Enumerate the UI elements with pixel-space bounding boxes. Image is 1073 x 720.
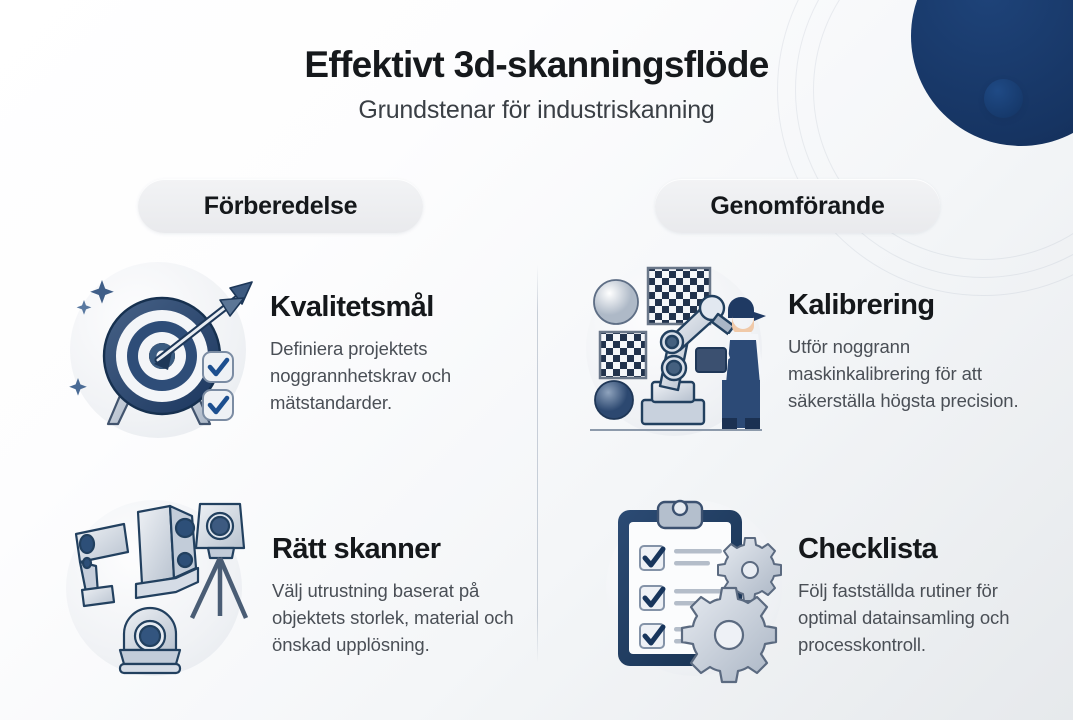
- item-title: Kvalitetsmål: [270, 292, 520, 324]
- section-pill-execution: Genomförande: [655, 179, 940, 233]
- clipboard-checklist-gears-icon: [598, 490, 794, 686]
- infographic-canvas: Effektivt 3d-skanningsflöde Grundstenar …: [0, 0, 1073, 720]
- item-title: Checklista: [798, 534, 1053, 566]
- page-title: Effektivt 3d-skanningsflöde: [0, 44, 1073, 87]
- list-item: Kalibrering Utför noggrann maskinkalibre…: [578, 250, 1038, 446]
- item-title: Rätt skanner: [272, 534, 527, 566]
- section-pill-label: Genomförande: [710, 192, 884, 221]
- header: Effektivt 3d-skanningsflöde Grundstenar …: [0, 44, 1073, 125]
- section-pill-label: Förberedelse: [204, 192, 357, 221]
- 3d-scanners-icon: [58, 490, 254, 686]
- item-description: Utför noggrann maskinkalibrering för att…: [788, 333, 1038, 415]
- section-pill-preparation: Förberedelse: [138, 179, 423, 233]
- item-description: Följ fastställda rutiner för optimal dat…: [798, 577, 1053, 659]
- list-item: Rätt skanner Välj utrustning baserat på …: [58, 490, 527, 686]
- list-item: Kvalitetsmål Definiera projektets noggra…: [62, 252, 520, 448]
- target-arrow-checkmarks-icon: [62, 252, 258, 448]
- robot-arm-calibration-icon: [578, 250, 774, 446]
- item-description: Välj utrustning baserat på objektets sto…: [272, 577, 527, 659]
- column-divider: [537, 265, 538, 663]
- item-title: Kalibrering: [788, 290, 1038, 322]
- page-subtitle: Grundstenar för industriskanning: [0, 96, 1073, 125]
- item-description: Definiera projektets noggrannhetskrav oc…: [270, 335, 520, 417]
- list-item: Checklista Följ fastställda rutiner för …: [598, 490, 1053, 686]
